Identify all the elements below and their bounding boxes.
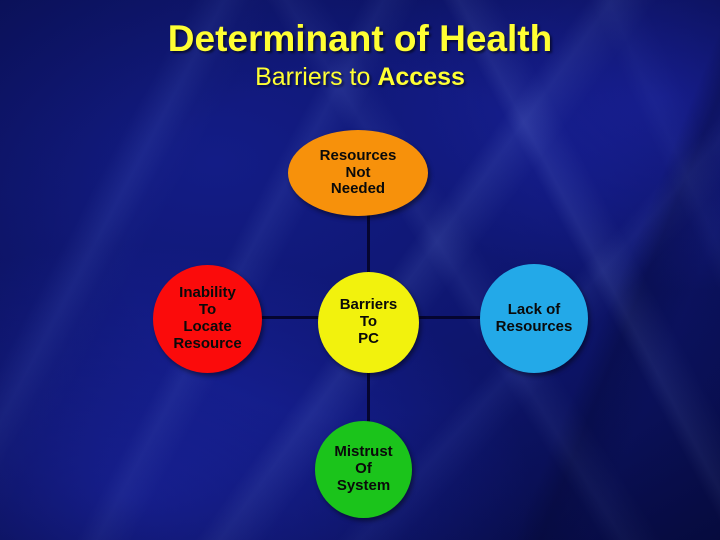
node-label: Mistrust Of System [332,444,394,494]
node-lack-of-resources[interactable]: Lack of Resources [480,264,588,373]
node-label: Barriers To PC [338,297,400,347]
connector-center-to-right [410,316,490,319]
slide-subtitle-prefix: Barriers to [255,63,377,91]
node-label: Lack of Resources [494,302,575,336]
node-label: Resources Not Needed [318,148,399,198]
connector-center-to-top [367,205,370,281]
node-resources-not-needed[interactable]: Resources Not Needed [288,130,428,216]
connector-center-to-left [252,316,328,319]
slide-title-block: Determinant of Health Barriers to Access [0,20,720,91]
node-mistrust-of-system[interactable]: Mistrust Of System [315,421,412,518]
presentation-slide: Determinant of Health Barriers to Access… [0,0,720,540]
connector-center-to-bottom [367,364,370,430]
node-barriers-to-pc[interactable]: Barriers To PC [318,272,419,373]
slide-title: Determinant of Health [0,20,720,59]
node-label: Inability To Locate Resource [171,285,243,352]
node-inability-to-locate-resource[interactable]: Inability To Locate Resource [153,265,262,373]
slide-subtitle: Barriers to Access [0,64,720,92]
slide-subtitle-emphasis: Access [377,63,465,91]
